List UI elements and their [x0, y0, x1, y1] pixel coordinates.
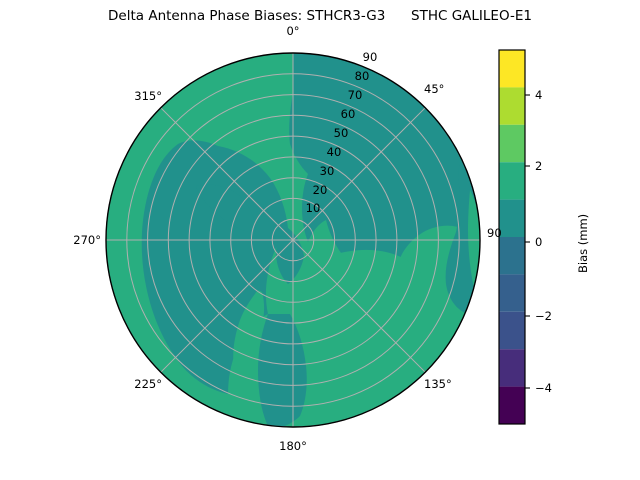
colorbar-tick-0: 0 — [535, 235, 542, 249]
colorbar-bands — [499, 50, 525, 424]
colorbar-tick-minus4: −4 — [535, 381, 552, 395]
colorbar-label: Bias (mm) — [576, 214, 590, 273]
colorbar-tick-4: 4 — [535, 88, 542, 102]
angular-gridlines — [106, 53, 480, 427]
angular-tick-225: 225° — [134, 377, 162, 391]
polar-plot-area: 0° 45° 90 135° 180° 225° 270° 315° 10 20… — [0, 0, 640, 480]
angular-tick-315: 315° — [134, 89, 162, 103]
colorbar-tick-minus2: −2 — [535, 309, 552, 323]
radial-tick-50: 50 — [334, 126, 349, 140]
radial-tick-90: 90 — [363, 50, 378, 64]
colorbar-tick-2: 2 — [535, 159, 542, 173]
angular-tick-0: 0° — [286, 24, 299, 38]
angular-tick-180: 180° — [279, 439, 307, 453]
radial-tick-20: 20 — [313, 183, 328, 197]
radial-tick-30: 30 — [320, 164, 335, 178]
radial-tick-80: 80 — [355, 69, 370, 83]
radial-tick-40: 40 — [327, 145, 342, 159]
radial-tick-70: 70 — [348, 88, 363, 102]
angular-tick-270: 270° — [73, 233, 101, 247]
colorbar-tickmarks — [525, 95, 530, 388]
angular-tick-45: 45° — [424, 82, 444, 96]
angular-tick-135: 135° — [424, 377, 452, 391]
radial-tick-60: 60 — [341, 107, 356, 121]
radial-tick-10: 10 — [306, 201, 321, 215]
angular-tick-90: 90 — [487, 226, 502, 240]
